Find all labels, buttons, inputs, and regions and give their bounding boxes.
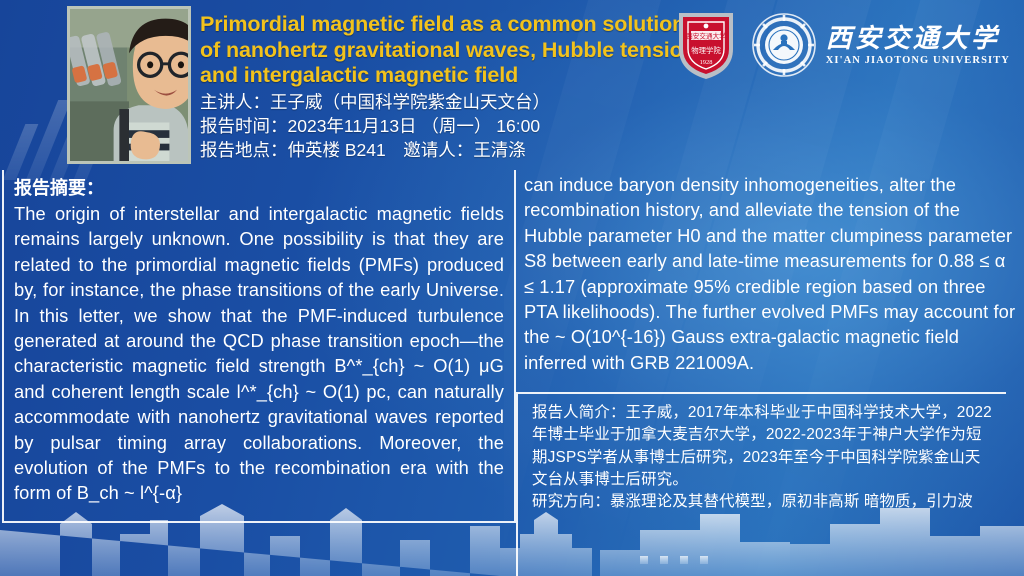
abstract-left-column: 报告摘要： The origin of interstellar and int… — [2, 170, 516, 523]
poster-header: Primordial magnetic field as a common so… — [0, 0, 1024, 170]
avatar — [67, 6, 191, 164]
svg-text:物理学院: 物理学院 — [691, 46, 721, 55]
research-direction-text: 研究方向：暴涨理论及其替代模型，原初非高斯 暗物质，引力波 — [532, 491, 996, 513]
event-meta: 主讲人：王子威（中国科学院紫金山天文台） 报告时间：2023年11月13日 （周… — [200, 90, 720, 162]
abstract-text-left: The origin of interstellar and intergala… — [14, 201, 504, 506]
svg-text:1928: 1928 — [699, 59, 712, 66]
speaker-bio-box: 报告人简介：王子威，2017年本科毕业于中国科学技术大学，2022年博士毕业于加… — [516, 392, 1006, 576]
xjtu-seal-icon — [751, 12, 817, 78]
xjtu-physics-shield-logo: 西安交通大学 物理学院 1928 — [675, 9, 737, 81]
venue-line: 报告地点：仲英楼 B241 邀请人：王清涤 — [200, 138, 720, 162]
time-line: 报告时间：2023年11月13日 （周一） 16:00 — [200, 114, 720, 138]
poster-background: Primordial magnetic field as a common so… — [0, 0, 1024, 576]
university-name-cn: 西安交通大学 — [826, 24, 1000, 54]
speaker-line: 主讲人：王子威（中国科学院紫金山天文台） — [200, 90, 720, 114]
logo-group: 西安交通大学 物理学院 1928 — [675, 6, 1010, 84]
speaker-bio-text: 报告人简介：王子威，2017年本科毕业于中国科学技术大学，2022年博士毕业于加… — [532, 402, 996, 491]
abstract-heading: 报告摘要： — [14, 176, 504, 200]
page-title: Primordial magnetic field as a common so… — [200, 12, 700, 89]
university-name-en: XI'AN JIAOTONG UNIVERSITY — [826, 55, 1010, 66]
abstract-right-column: can induce baryon density inhomogeneitie… — [524, 172, 1020, 390]
svg-text:西安交通大学: 西安交通大学 — [686, 31, 726, 40]
abstract-text-right: can induce baryon density inhomogeneitie… — [524, 172, 1020, 375]
